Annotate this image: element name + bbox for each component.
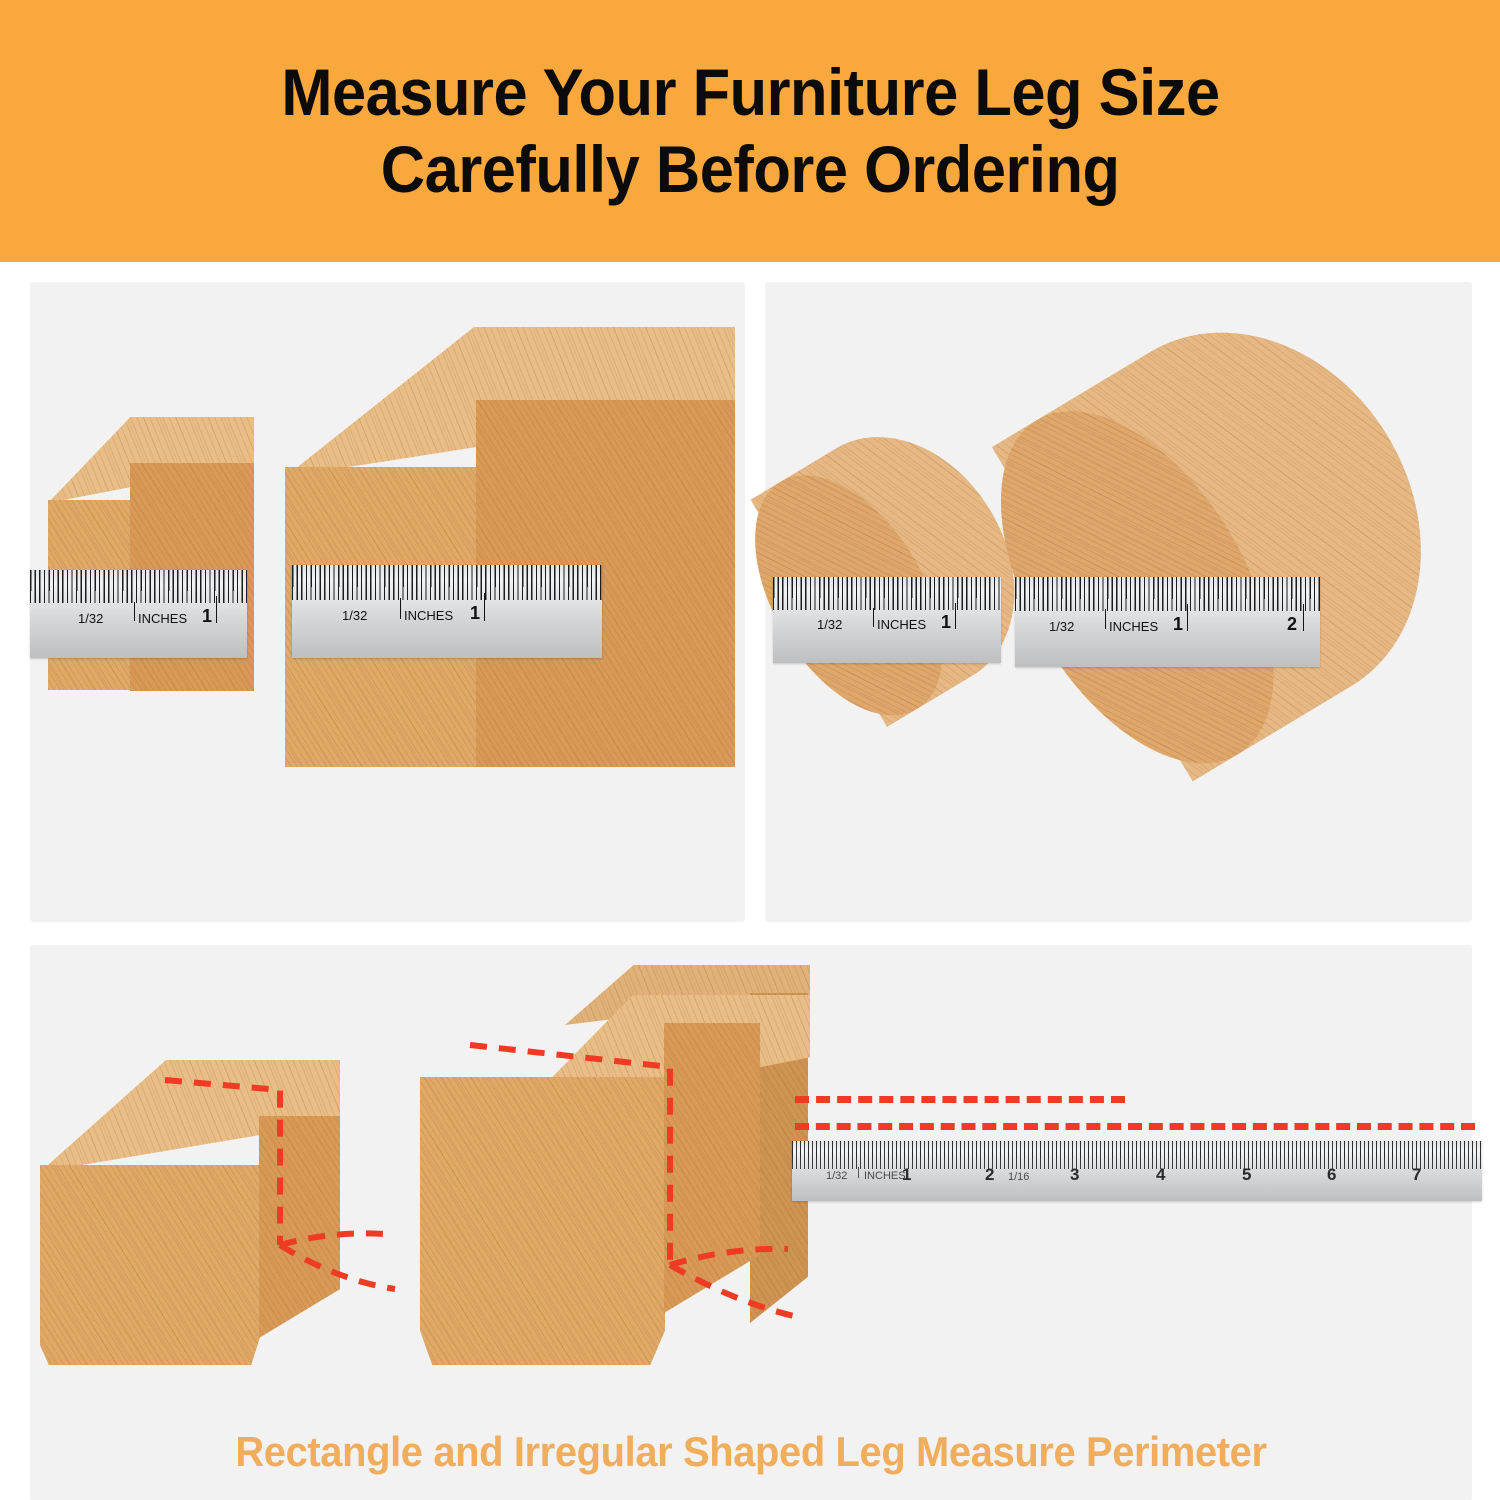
ruler-mark-2: 2 (1287, 614, 1297, 635)
ruler-mark-1: 1 (941, 612, 951, 633)
page-title-line-2: Carefully Before Ordering (381, 134, 1120, 205)
ruler-mark-5: 5 (1242, 1165, 1251, 1185)
ruler-divider (134, 602, 135, 621)
ruler-mark-6: 6 (1327, 1165, 1336, 1185)
square-leg-small-block (48, 417, 278, 717)
ruler-mark-1: 1 (202, 606, 212, 627)
infographic-page: Measure Your Furniture Leg Size Carefull… (0, 0, 1500, 1500)
ruler-label-1-32: 1/32 (342, 608, 367, 623)
ruler-coarse-ticks (1015, 577, 1320, 599)
ruler-coarse-ticks (30, 570, 247, 591)
ruler-mark-1: 1 (470, 603, 480, 624)
ruler-divider (873, 608, 874, 627)
ruler-long-inches: 1/32 INCHES 1 2 1/16 3 4 5 6 7 (792, 1141, 1482, 1201)
ruler-square-large: 1/32 INCHES 1 (292, 565, 602, 658)
ruler-inch-line-2 (1303, 604, 1304, 631)
ruler-inch-line-1 (1187, 604, 1188, 631)
ruler-coarse-ticks (773, 577, 1001, 598)
ruler-label-inches: INCHES (877, 617, 926, 632)
ruler-round-small: 1/32 INCHES 1 (773, 577, 1001, 663)
ruler-square-small: 1/32 INCHES 1 (30, 570, 247, 658)
round-leg-card: 1/32 INCHES 1 1/32 INCHES 1 2 Round Leg … (765, 282, 1472, 922)
rope-max-line (795, 1123, 1475, 1130)
block-front-face (420, 1077, 665, 1365)
perimeter-small-block (40, 1060, 340, 1370)
ruler-labels: 1/32 INCHES 1 2 (1015, 613, 1320, 644)
ruler-label-inches: INCHES (404, 608, 453, 623)
block-side-face (664, 1023, 760, 1313)
ruler-labels: 1/32 INCHES 1 (292, 602, 602, 634)
footer-note: Rectangle and Irregular Shaped Leg Measu… (66, 1428, 1436, 1476)
ruler-label-inches: INCHES (138, 611, 187, 626)
ruler-divider (400, 598, 401, 618)
ruler-label-1-16: 1/16 (1008, 1171, 1029, 1183)
ruler-labels: 1/32 INCHES 1 (773, 611, 1001, 640)
rope-min-line (795, 1096, 1125, 1103)
square-leg-large-block (285, 327, 735, 767)
round-leg-large-cylinder (945, 239, 1500, 836)
ruler-coarse-ticks (792, 1141, 1482, 1159)
ruler-inch-line (216, 596, 217, 622)
ruler-round-large: 1/32 INCHES 1 2 (1015, 577, 1320, 667)
ruler-mark-7: 7 (1412, 1165, 1421, 1185)
ruler-label-1-32: 1/32 (817, 617, 842, 632)
block-side-face (259, 1116, 340, 1338)
ruler-mark-2: 2 (985, 1165, 994, 1185)
ruler-label-1-32: 1/32 (1049, 619, 1074, 634)
ruler-label-1-32: 1/32 (826, 1170, 847, 1182)
square-leg-card: 1/32 INCHES 1 1/32 INCHES 1 Square Leg d… (30, 282, 745, 922)
page-title-line-1: Measure Your Furniture Leg Size (281, 57, 1219, 128)
ruler-label-inches: INCHES (864, 1170, 906, 1182)
perimeter-card: 1/32 INCHES 1 2 1/16 3 4 5 6 7 Perimeter… (30, 945, 1472, 1500)
ruler-inch-line (955, 603, 956, 629)
ruler-coarse-ticks (292, 565, 602, 587)
ruler-mark-1: 1 (902, 1165, 911, 1185)
perimeter-large-block (420, 965, 810, 1375)
ruler-mark-4: 4 (1156, 1165, 1165, 1185)
ruler-labels: 1/32 INCHES 1 2 1/16 3 4 5 6 7 (792, 1167, 1482, 1187)
ruler-labels: 1/32 INCHES 1 (30, 605, 247, 635)
ruler-inch-line (484, 593, 485, 621)
ruler-label-1-32: 1/32 (78, 611, 103, 626)
ruler-mark-1: 1 (1173, 614, 1183, 635)
ruler-divider (1105, 609, 1106, 629)
ruler-mark-3: 3 (1070, 1165, 1079, 1185)
ruler-label-inches: INCHES (1109, 619, 1158, 634)
ruler-divider (858, 1167, 859, 1178)
block-front-face (40, 1165, 260, 1365)
header-banner: Measure Your Furniture Leg Size Carefull… (0, 0, 1500, 262)
